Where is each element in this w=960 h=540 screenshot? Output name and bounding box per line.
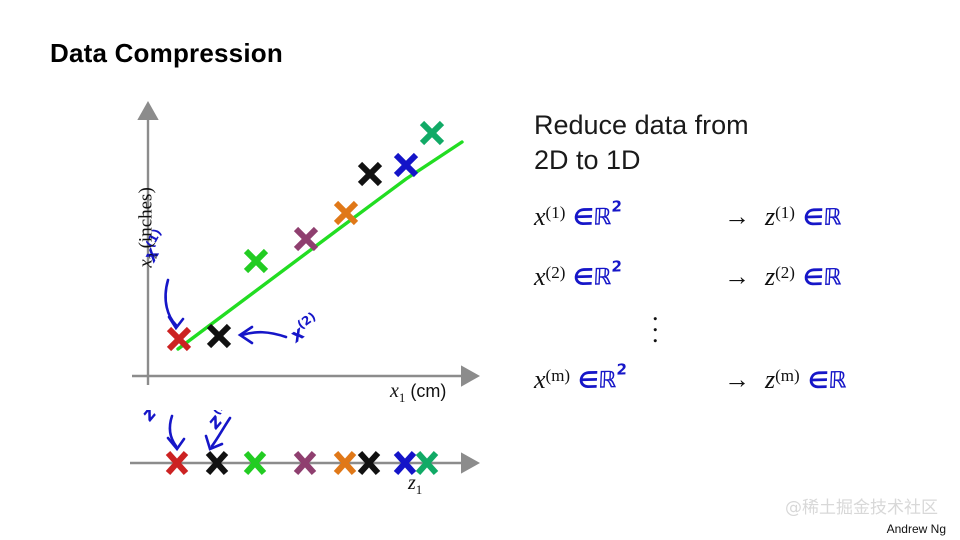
svg-text:z: z	[136, 410, 161, 426]
equation-row-2: x(2) ∈ℝ2 → z(2) ∈ℝ	[534, 257, 934, 297]
equation-m-rhs: z(m) ∈ℝ	[765, 365, 846, 395]
fit-line	[178, 142, 462, 349]
equation-2-rhs: z(2) ∈ℝ	[765, 262, 841, 292]
equation-2-rhs-set: ∈ℝ	[802, 265, 841, 292]
data-point-3	[246, 251, 266, 271]
data-point-4	[296, 229, 316, 249]
equation-1-lhs: x(1) ∈ℝ2	[534, 202, 709, 232]
equation-m-lhs-set: ∈ℝ2	[577, 365, 626, 395]
annotation-arrow-x2	[242, 332, 286, 337]
slide-root: Data Compression	[0, 0, 960, 540]
annotation-label-z1: z (1)	[135, 410, 174, 426]
projection-axis-1d: z (1) z (2) z1	[90, 410, 490, 520]
explanation-panel: Reduce data from 2D to 1D x(1) ∈ℝ2 → z(1…	[534, 108, 934, 400]
data-point-6	[360, 164, 380, 184]
equation-2-lhs: x(2) ∈ℝ2	[534, 262, 709, 292]
equation-m-lhs: x(m) ∈ℝ2	[534, 365, 709, 395]
attribution: Andrew Ng	[887, 522, 946, 536]
headline-line-2: 2D to 1D	[534, 143, 934, 178]
equation-2-arrow: →	[709, 262, 765, 292]
page-title: Data Compression	[50, 38, 283, 69]
equation-1-lhs-set: ∈ℝ2	[573, 202, 622, 232]
equation-2-lhs-set: ∈ℝ2	[573, 262, 622, 292]
line1d-canvas: z (1) z (2)	[90, 410, 490, 520]
z-axis-label: z1	[408, 472, 422, 498]
watermark: @稀土掘金技术社区	[785, 493, 938, 518]
equation-row-1: x(1) ∈ℝ2 → z(1) ∈ℝ	[534, 197, 934, 237]
data-point-5	[336, 203, 356, 223]
annotation-arrow-x1-head	[169, 317, 183, 328]
x-axis-label: x1 (cm)	[390, 380, 446, 406]
equation-1-rhs: z(1) ∈ℝ	[765, 202, 841, 232]
annotation-label-x2: x (2)	[284, 309, 324, 347]
annotation-label-z2: z (2)	[201, 410, 240, 434]
scatter-plot-2d: x (1) x (2) x2 (inches) x1 (cm)	[90, 95, 490, 405]
equation-1-rhs-set: ∈ℝ	[802, 205, 841, 232]
data-point-8	[422, 123, 442, 143]
data-point-1	[169, 329, 189, 349]
headline-line-1: Reduce data from	[534, 108, 934, 143]
annotation-arrow-z1-head	[168, 438, 184, 449]
data-point-2	[209, 326, 229, 346]
equation-1-arrow: →	[709, 202, 765, 232]
equation-m-arrow: →	[709, 365, 765, 395]
data-point-7	[396, 155, 416, 175]
y-axis-label: x2 (inches)	[136, 147, 161, 307]
equation-m-rhs-set: ∈ℝ	[807, 367, 846, 394]
vertical-ellipsis: ...	[534, 307, 934, 340]
equation-row-m: x(m) ∈ℝ2 → z(m) ∈ℝ	[534, 360, 934, 400]
